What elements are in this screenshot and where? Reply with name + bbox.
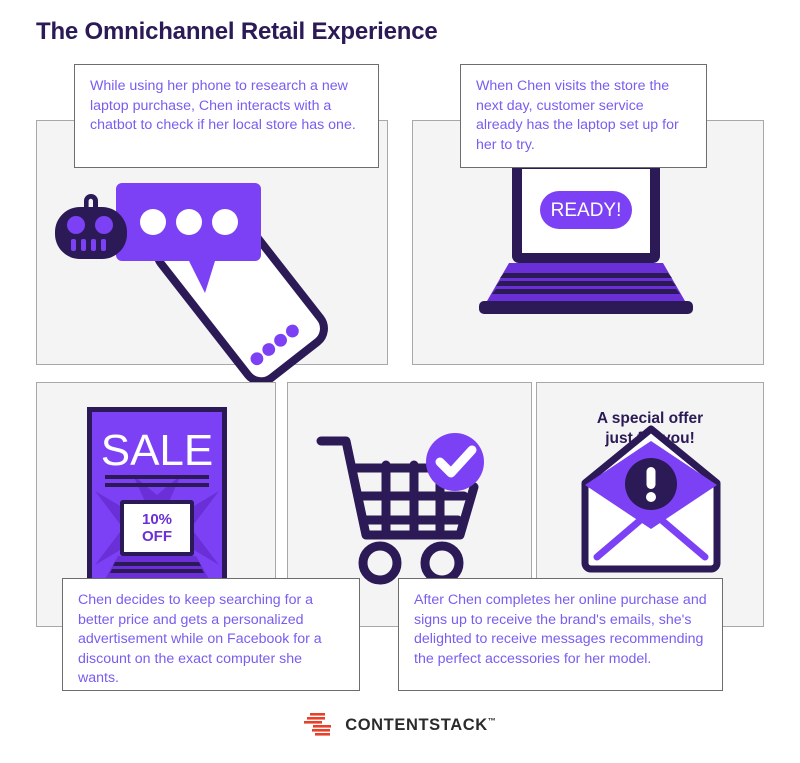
callout-step-1: While using her phone to research a new … <box>74 64 379 168</box>
callout-step-4-text: After Chen completes her online purchase… <box>414 592 707 667</box>
callout-step-3: Chen decides to keep searching for a bet… <box>62 578 360 691</box>
poster-discount-line1: 10% <box>142 511 172 528</box>
page-title: The Omnichannel Retail Experience <box>36 18 438 46</box>
trademark-symbol: ™ <box>488 716 496 725</box>
infographic-root: The Omnichannel Retail Experience <box>0 0 800 763</box>
poster-discount-line2: OFF <box>142 528 172 545</box>
brand-name-text: CONTENTSTACK <box>345 716 488 734</box>
footer-logo: CONTENTSTACK™ <box>0 712 800 738</box>
contentstack-logo-icon <box>304 712 334 738</box>
poster-headline: SALE <box>101 426 214 475</box>
callout-step-1-text: While using her phone to research a new … <box>90 78 356 133</box>
callout-step-4: After Chen completes her online purchase… <box>398 578 723 691</box>
callout-step-3-text: Chen decides to keep searching for a bet… <box>78 592 322 686</box>
callout-step-2: When Chen visits the store the next day,… <box>460 64 707 168</box>
callout-step-2-text: When Chen visits the store the next day,… <box>476 78 679 153</box>
laptop-screen-label: READY! <box>551 200 622 221</box>
brand-name: CONTENTSTACK™ <box>345 716 496 735</box>
